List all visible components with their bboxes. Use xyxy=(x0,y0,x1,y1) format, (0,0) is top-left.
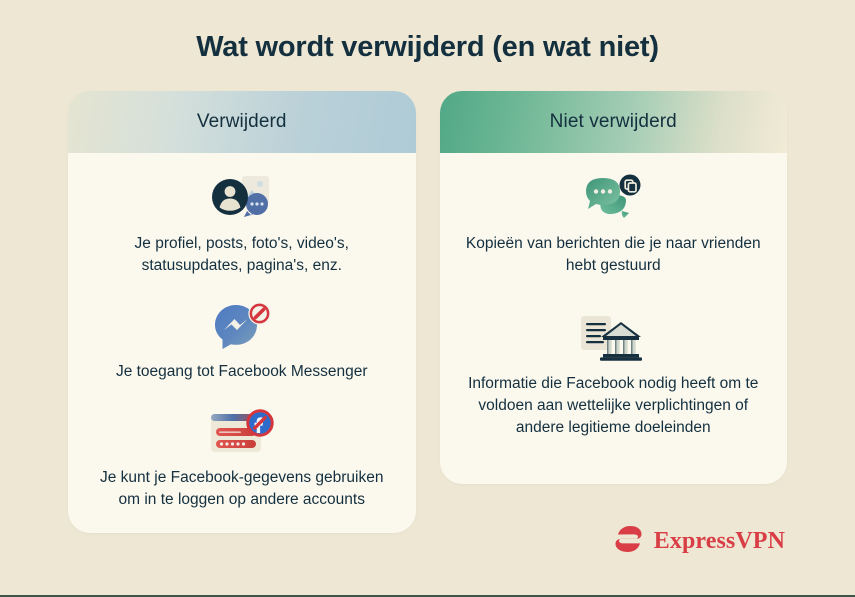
list-item: Kopieën van berichten die je naar vriend… xyxy=(462,171,766,277)
cards-row: Verwijderd xyxy=(0,91,855,533)
list-item-label: Je kunt je Facebook-gegevens gebruiken o… xyxy=(90,467,394,511)
messenger-blocked-icon xyxy=(213,299,271,355)
list-item: Je profiel, posts, foto's, video's, stat… xyxy=(90,171,394,277)
profile-photo-chat-icon xyxy=(211,171,273,227)
list-item: Je toegang tot Facebook Messenger xyxy=(90,299,394,383)
card-deleted-header: Verwijderd xyxy=(68,91,416,153)
infographic-root: Wat wordt verwijderd (en wat niet) Verwi… xyxy=(0,0,855,597)
list-item-label: Kopieën van berichten die je naar vriend… xyxy=(462,233,766,277)
list-item-label: Informatie die Facebook nodig heeft om t… xyxy=(462,373,766,439)
expressvpn-wordmark: ExpressVPN xyxy=(654,528,785,555)
card-deleted: Verwijderd xyxy=(68,91,416,533)
document-courthouse-icon xyxy=(577,311,649,367)
card-kept: Niet verwijderd xyxy=(440,91,788,484)
list-item-label: Je profiel, posts, foto's, video's, stat… xyxy=(90,233,394,277)
card-kept-body: Kopieën van berichten die je naar vriend… xyxy=(440,153,788,484)
chat-copy-icon xyxy=(582,171,644,227)
list-item: Informatie die Facebook nodig heeft om t… xyxy=(462,311,766,439)
list-item-label: Je toegang tot Facebook Messenger xyxy=(116,361,368,383)
page-title: Wat wordt verwijderd (en wat niet) xyxy=(196,30,659,65)
list-item: Je kunt je Facebook-gegevens gebruiken o… xyxy=(90,405,394,511)
expressvpn-branding: ExpressVPN xyxy=(611,524,785,559)
expressvpn-logo-icon xyxy=(611,524,645,559)
login-credentials-blocked-icon xyxy=(204,405,280,461)
card-deleted-body: Je profiel, posts, foto's, video's, stat… xyxy=(68,153,416,533)
card-kept-header: Niet verwijderd xyxy=(440,91,788,153)
